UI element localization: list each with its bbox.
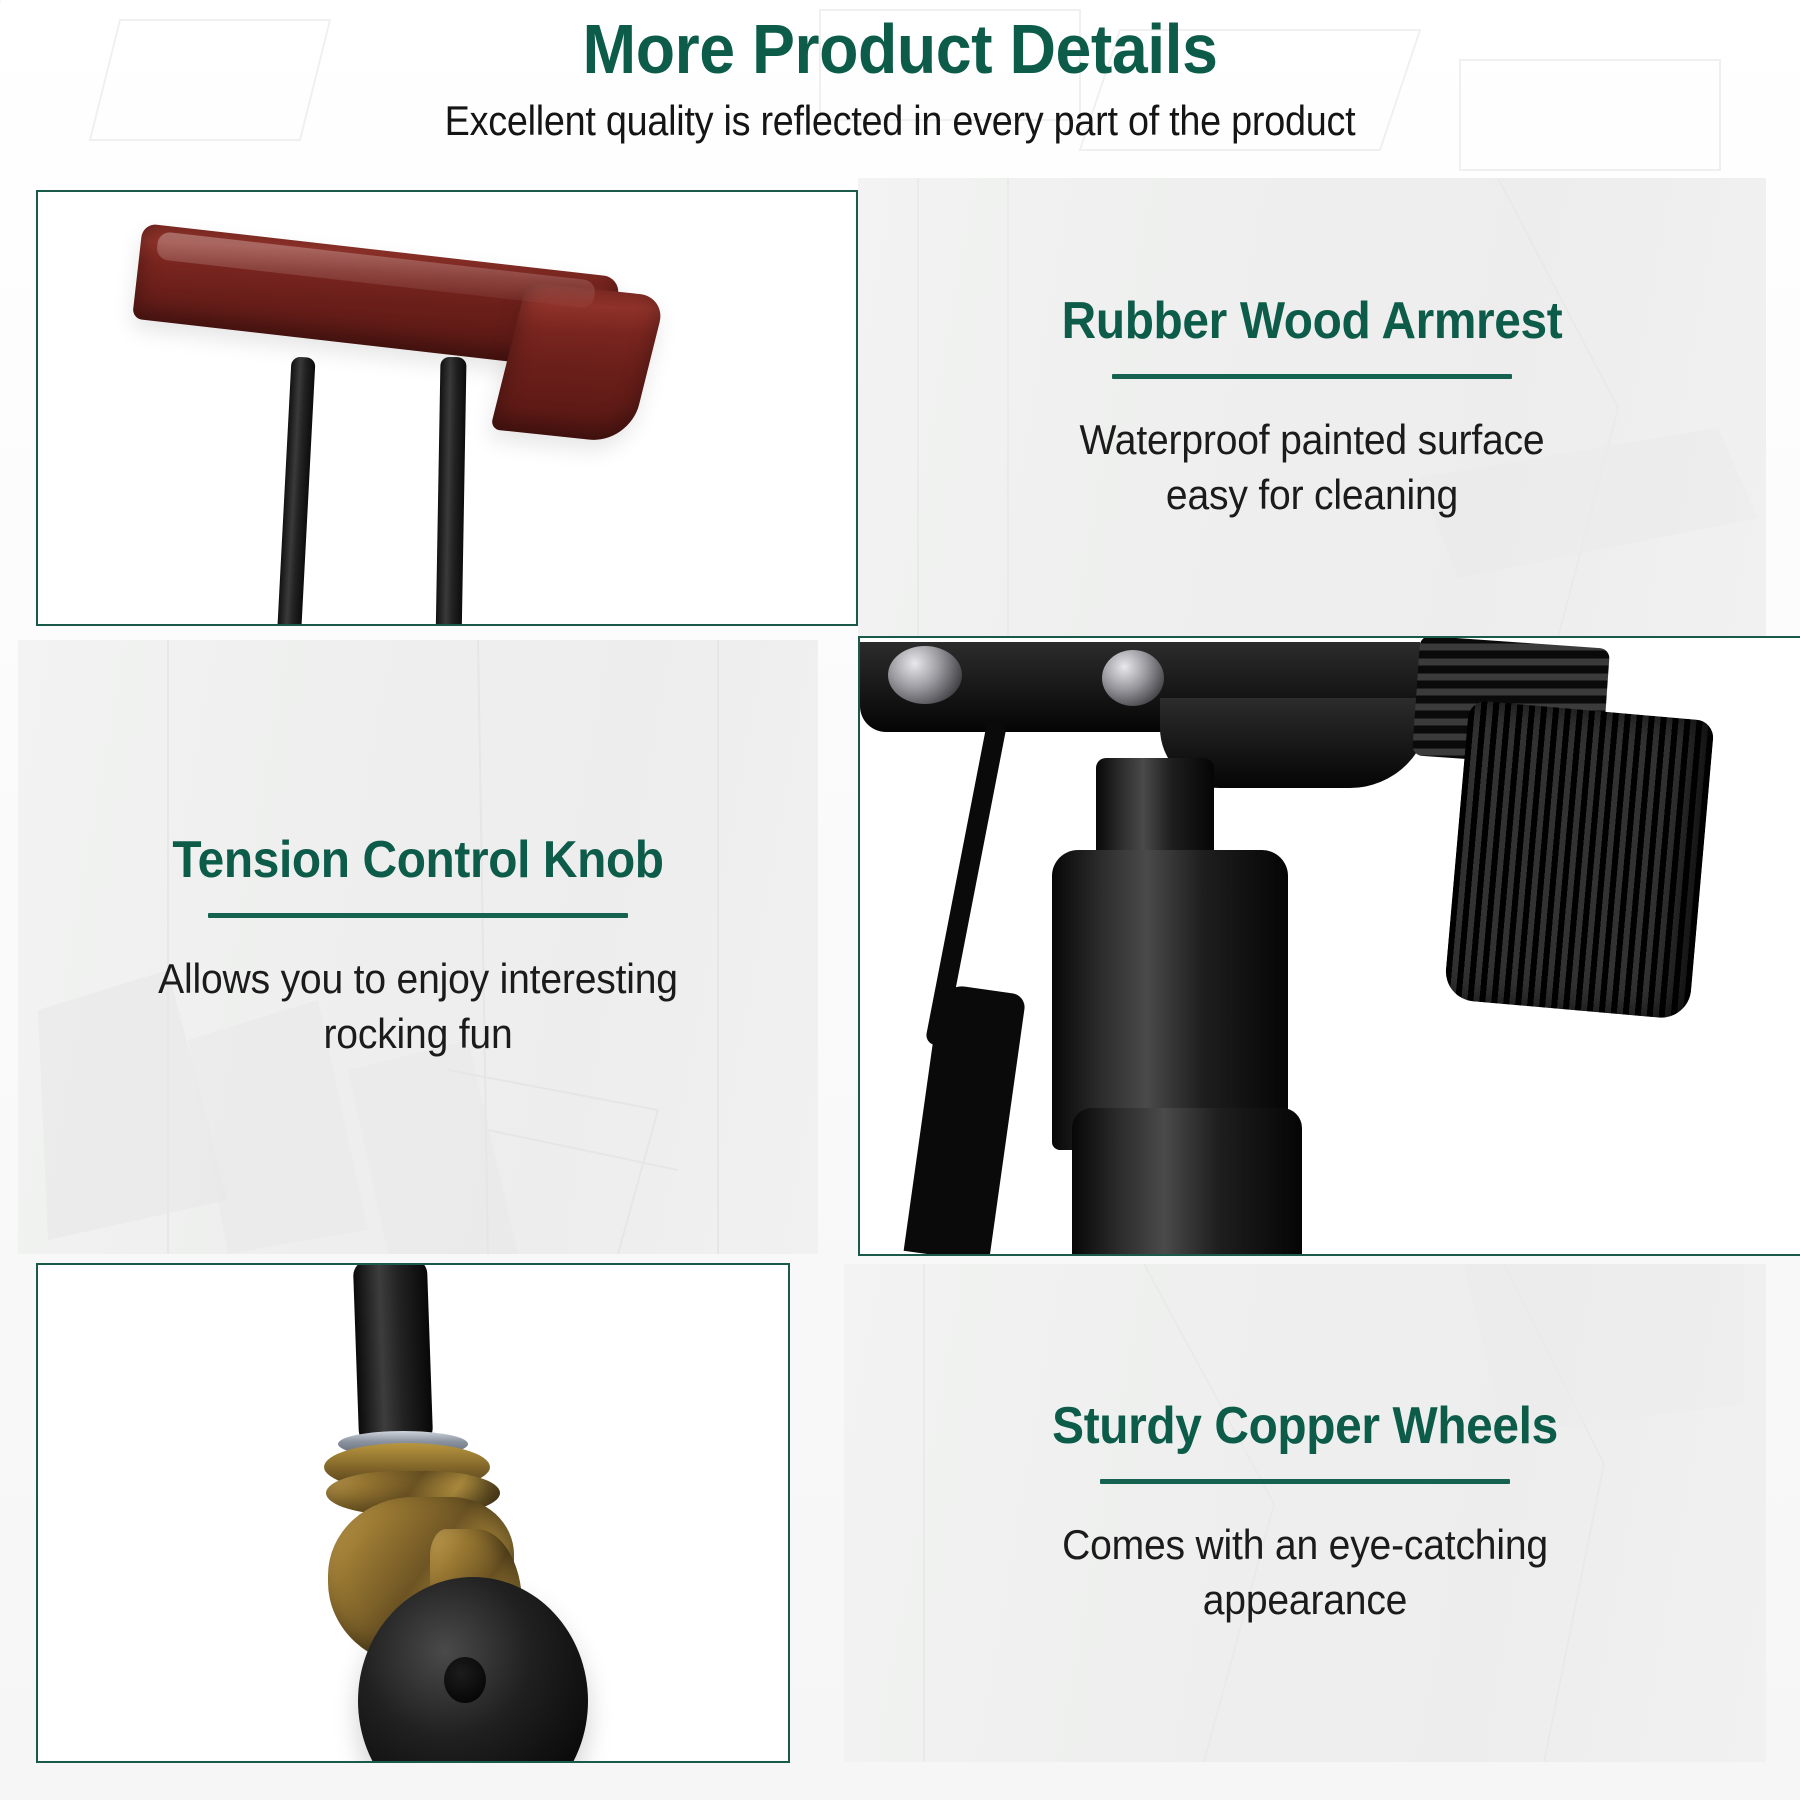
chair-leg — [353, 1263, 433, 1446]
heading-divider — [1100, 1479, 1510, 1484]
feature-text-sturdy-copper-wheels: Sturdy Copper Wheels Comes with an eye-c… — [844, 1264, 1766, 1762]
header: More Product Details Excellent quality i… — [0, 0, 1800, 143]
page-title: More Product Details — [72, 0, 1728, 85]
caster-wheel-illustration — [38, 1265, 788, 1761]
feature-body: Allows you to enjoy interesting rocking … — [74, 952, 762, 1061]
column-base — [1072, 1108, 1302, 1256]
feature-body: Waterproof painted surface easy for clea… — [921, 413, 1702, 522]
feature-body-line-1: Comes with an eye-catching — [908, 1518, 1702, 1573]
feature-text-tension-control-knob: Tension Control Knob Allows you to enjoy… — [18, 640, 818, 1254]
heading-divider — [1112, 374, 1512, 379]
screw-icon — [1102, 650, 1164, 706]
feature-body-line-2: appearance — [908, 1573, 1702, 1628]
feature-image-sturdy-copper-wheels — [36, 1263, 790, 1763]
tension-knob — [1443, 700, 1714, 1020]
feature-body-line-2: easy for cleaning — [921, 468, 1702, 523]
feature-heading: Rubber Wood Armrest — [926, 294, 1699, 349]
feature-body: Comes with an eye-catching appearance — [908, 1518, 1702, 1627]
feature-image-rubber-wood-armrest — [36, 190, 858, 626]
tilt-paddle — [904, 983, 1027, 1256]
feature-body-line-1: Waterproof painted surface — [921, 413, 1702, 468]
screw-icon — [888, 646, 962, 704]
feature-body-line-1: Allows you to enjoy interesting — [74, 952, 762, 1007]
feature-body-line-2: rocking fun — [74, 1007, 762, 1062]
tension-knob-illustration — [860, 638, 1800, 1254]
feature-text-rubber-wood-armrest: Rubber Wood Armrest Waterproof painted s… — [858, 178, 1766, 638]
feature-heading: Sturdy Copper Wheels — [912, 1399, 1698, 1454]
gas-lift-column — [1052, 850, 1288, 1150]
feature-heading: Tension Control Knob — [78, 833, 759, 888]
heading-divider — [208, 913, 628, 918]
armrest-post-left — [276, 357, 315, 626]
armrest-illustration — [38, 192, 856, 624]
armrest-post-right — [435, 357, 466, 626]
caster-axle-hub — [444, 1657, 486, 1703]
feature-image-tension-control-knob — [858, 636, 1800, 1256]
page-subtitle: Excellent quality is reflected in every … — [90, 85, 1710, 143]
